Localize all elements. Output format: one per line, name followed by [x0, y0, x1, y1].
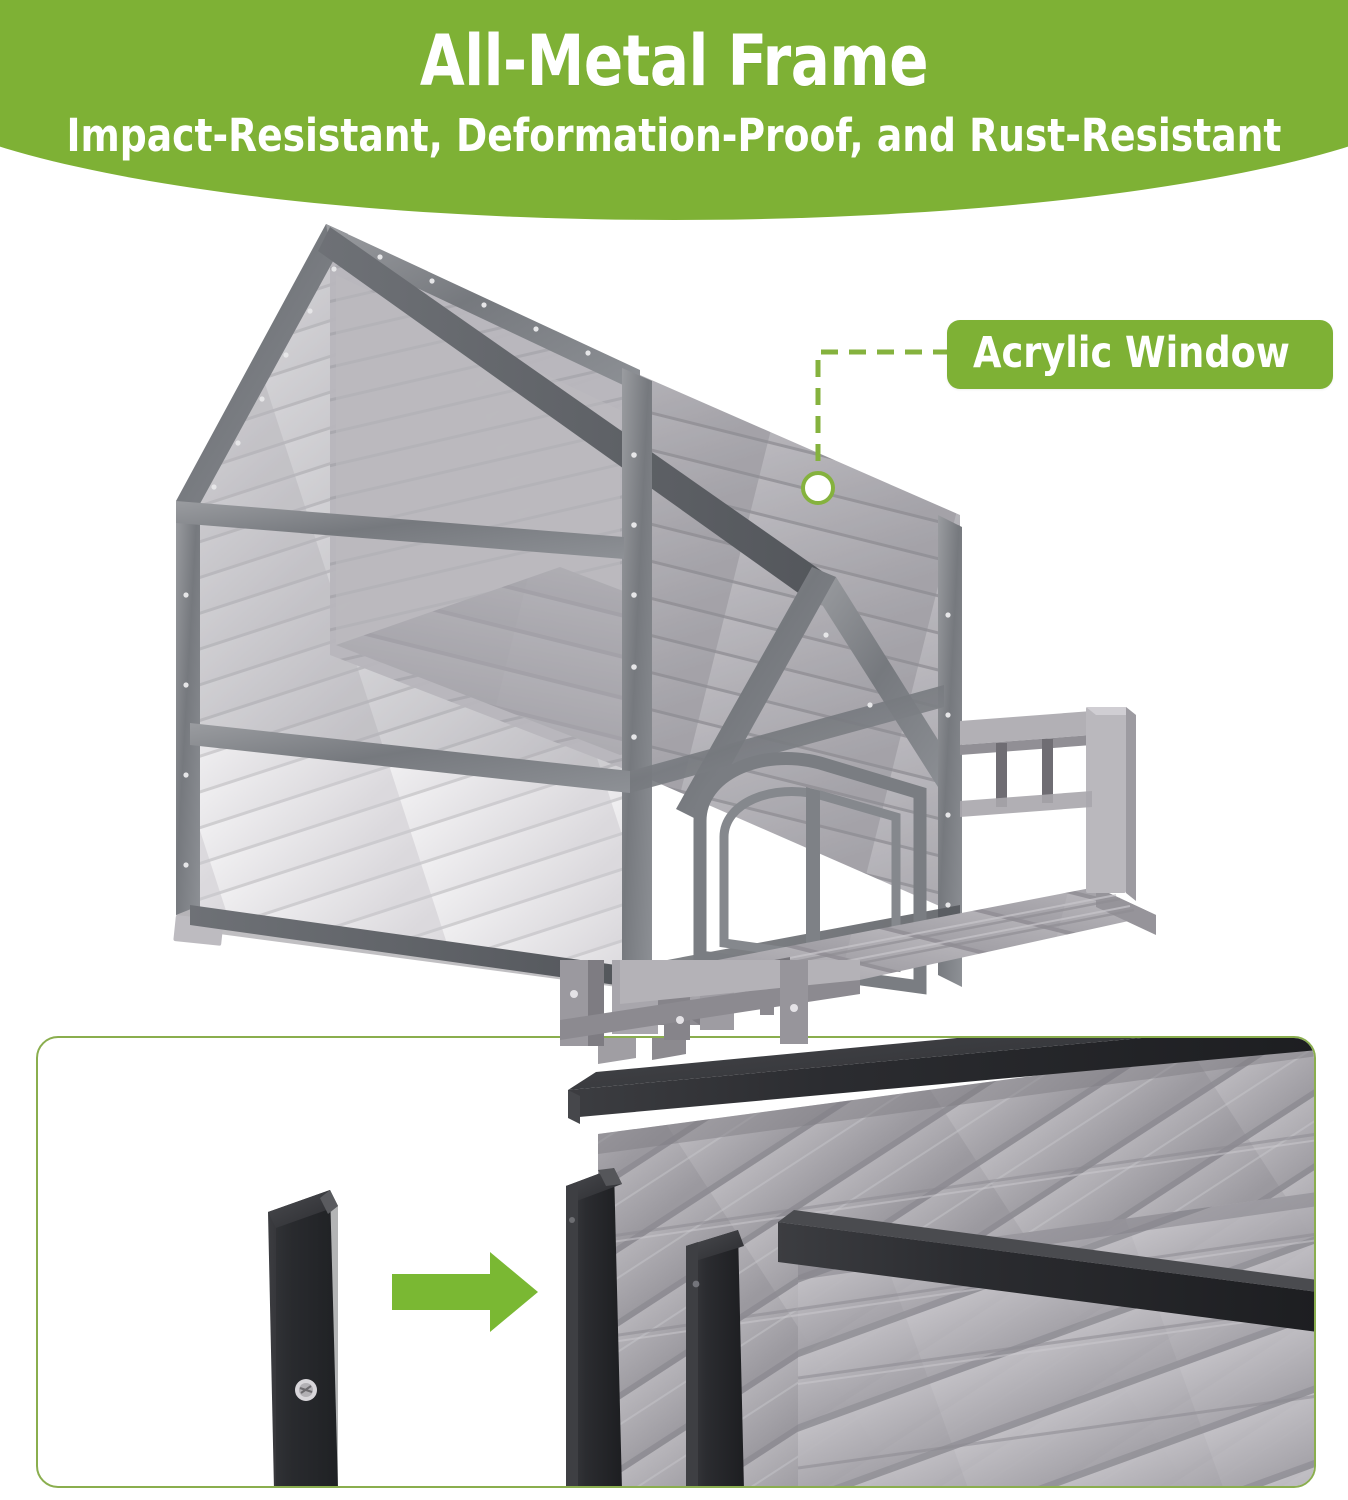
- metal-corner-cap: [598, 1038, 686, 1064]
- callout-label: Acrylic Window: [973, 332, 1290, 375]
- porch-railing: [960, 707, 1136, 901]
- channel-inner-post: [686, 1230, 744, 1488]
- page-subtitle: Impact-Resistant, Deformation-Proof, and…: [47, 96, 1301, 158]
- loose-metal-post: [268, 1190, 338, 1488]
- callout-marker-dot: [801, 471, 835, 505]
- callout-acrylic-window[interactable]: Acrylic Window: [947, 320, 1333, 389]
- banner-text-block: All-Metal Frame Impact-Resistant, Deform…: [0, 0, 1348, 158]
- detail-inset-panel: [36, 1036, 1316, 1488]
- post-assembly-illustration: [38, 1038, 1316, 1488]
- page-title: All-Metal Frame: [54, 0, 1294, 96]
- arrow-right-icon: [392, 1252, 538, 1332]
- seated-metal-post: [566, 1168, 622, 1488]
- header-banner: All-Metal Frame Impact-Resistant, Deform…: [0, 0, 1348, 230]
